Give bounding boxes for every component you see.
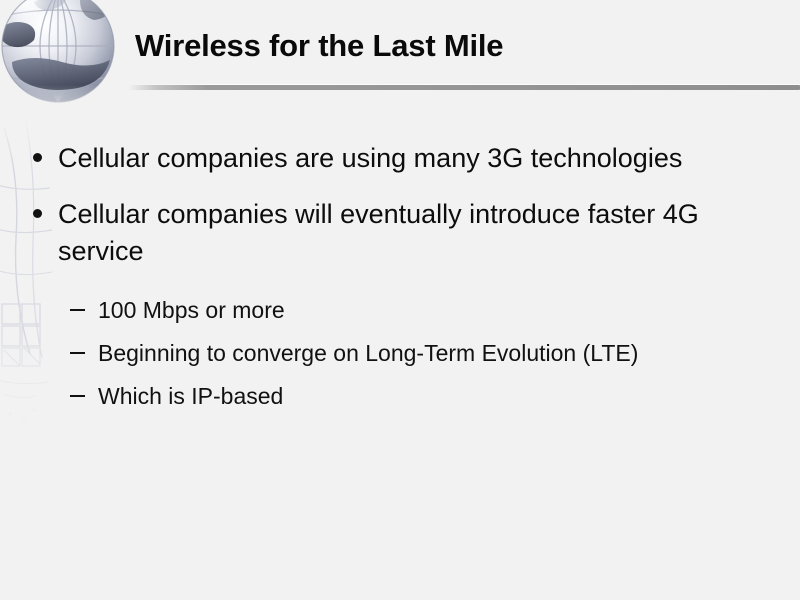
globe-graphic <box>0 0 126 124</box>
list-item-label: Cellular companies are using many 3G tec… <box>58 143 682 173</box>
list-item: Beginning to converge on Long-Term Evolu… <box>0 332 800 375</box>
list-item-label: Beginning to converge on Long-Term Evolu… <box>98 340 638 366</box>
list-item: Which is IP-based <box>0 375 800 418</box>
bullet-dash-icon <box>70 395 85 397</box>
bullet-dot-icon <box>33 209 42 218</box>
title-rule <box>128 85 800 90</box>
bullet-dash-icon <box>70 352 85 354</box>
slide-body: Cellular companies are using many 3G tec… <box>0 140 800 418</box>
bullet-dot-icon <box>33 153 42 162</box>
slide: Wireless for the Last Mile Cellular comp… <box>0 0 800 600</box>
list-item: Cellular companies are using many 3G tec… <box>0 140 800 177</box>
list-item: 100 Mbps or more <box>0 289 800 332</box>
list-item-label: Cellular companies will eventually intro… <box>58 199 699 266</box>
list-item: Cellular companies will eventually intro… <box>0 196 800 270</box>
list-item-label: Which is IP-based <box>98 383 283 409</box>
bullet-dash-icon <box>70 309 85 311</box>
sub-list: 100 Mbps or more Beginning to converge o… <box>0 289 800 418</box>
list-item-label: 100 Mbps or more <box>98 297 285 323</box>
page-title: Wireless for the Last Mile <box>135 28 503 64</box>
